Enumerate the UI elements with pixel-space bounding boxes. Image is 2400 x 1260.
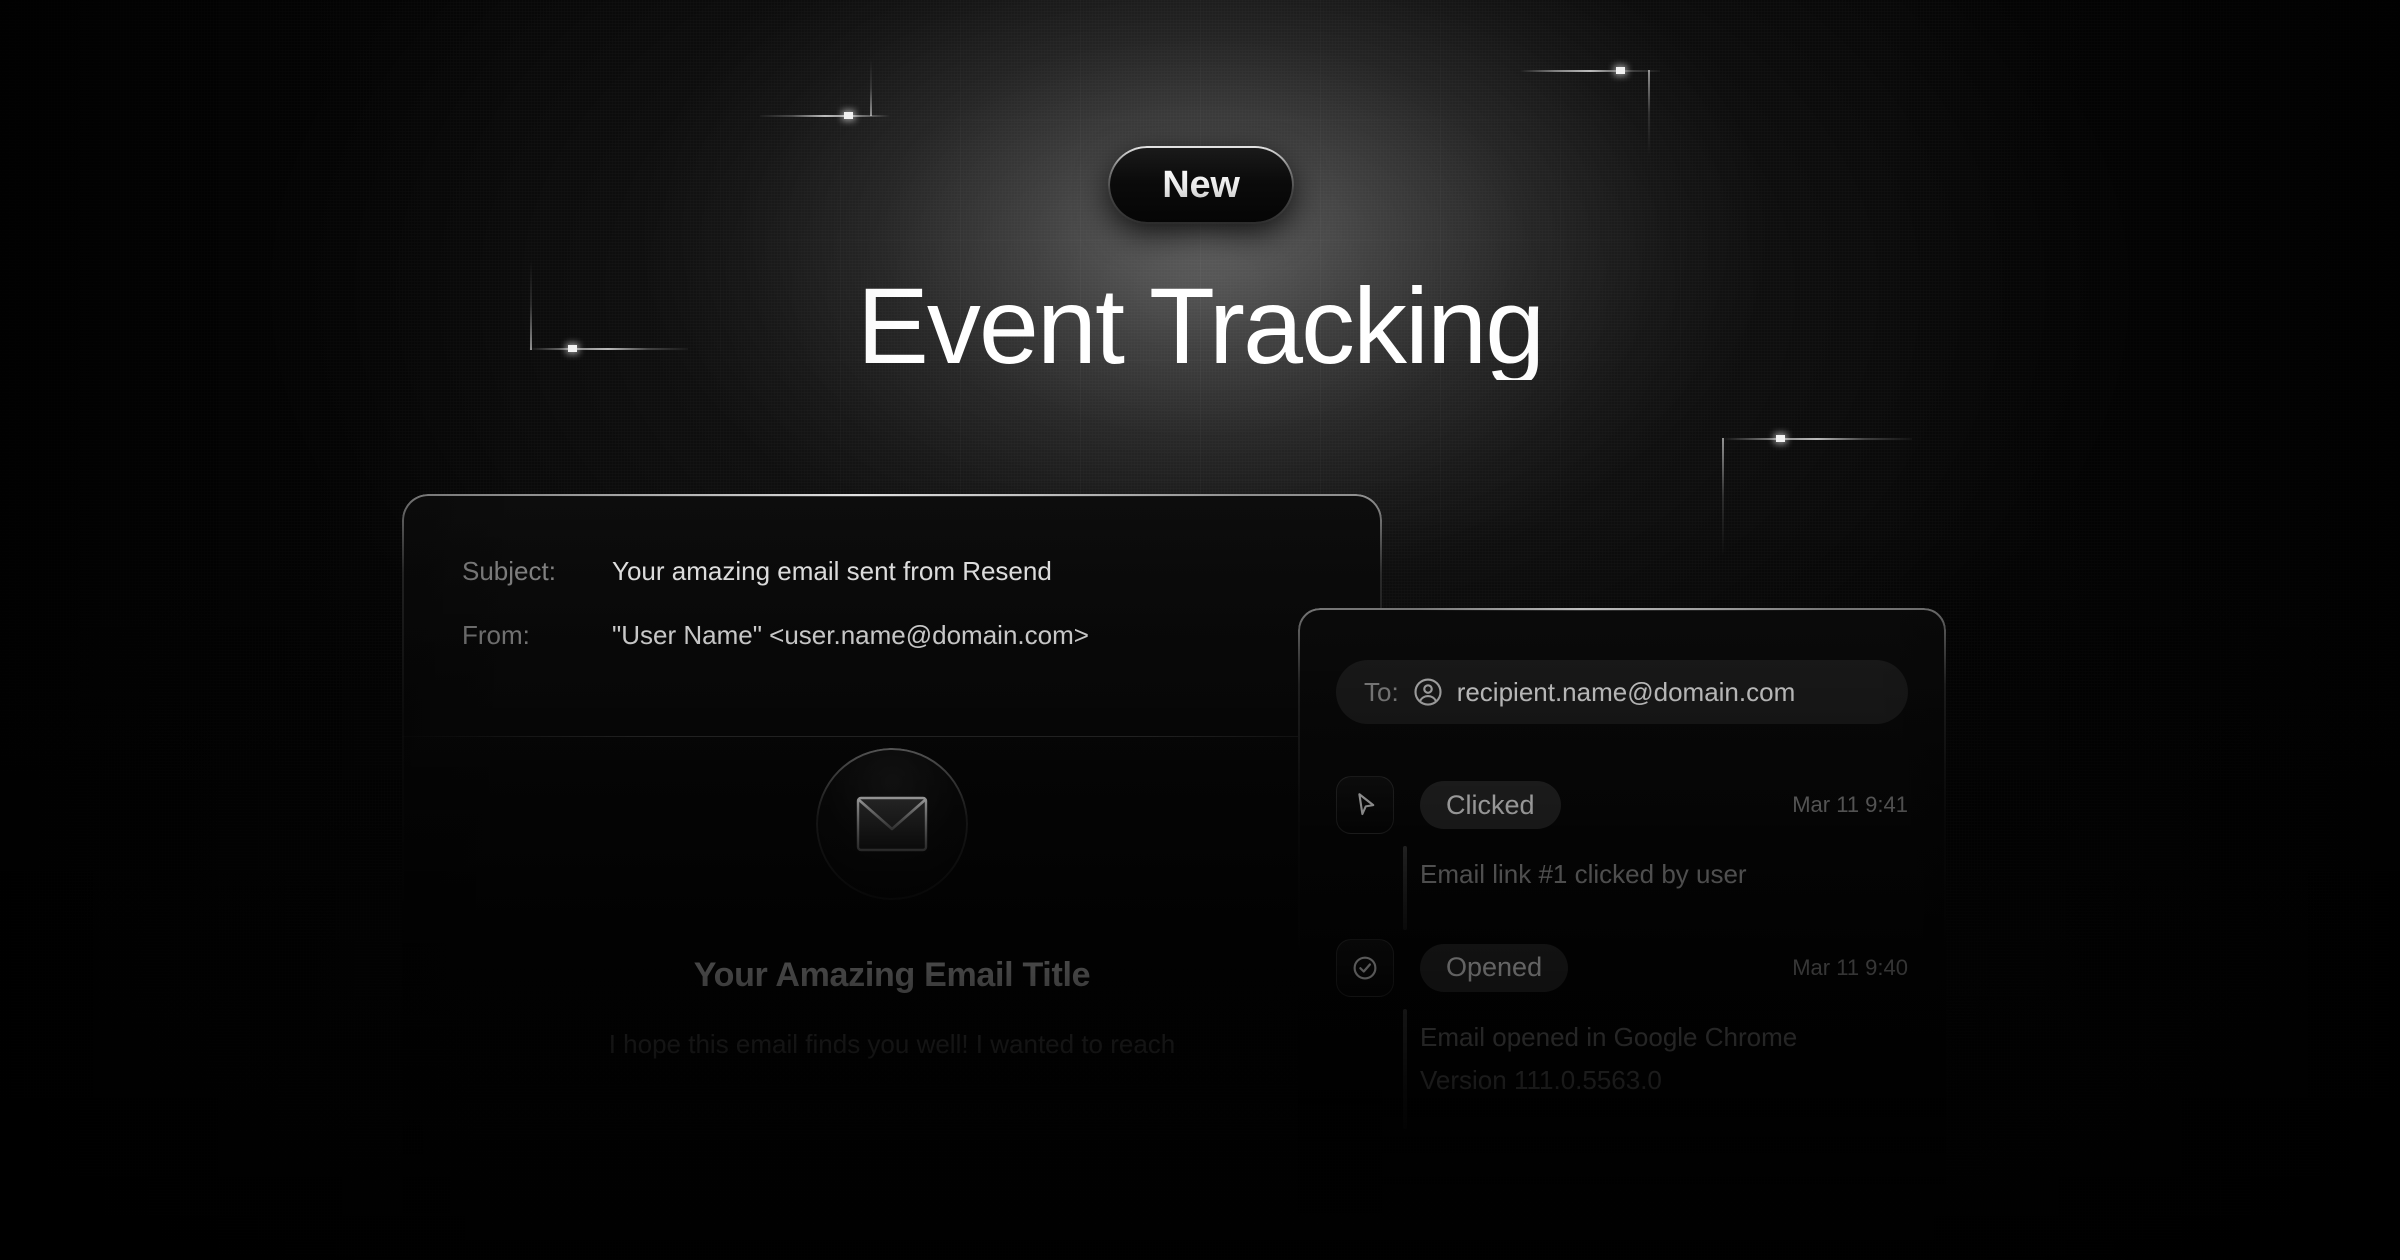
- background-vignette: [0, 0, 2400, 1260]
- hero-section: New Event Tracking Subject: Your amazing…: [0, 0, 2400, 1260]
